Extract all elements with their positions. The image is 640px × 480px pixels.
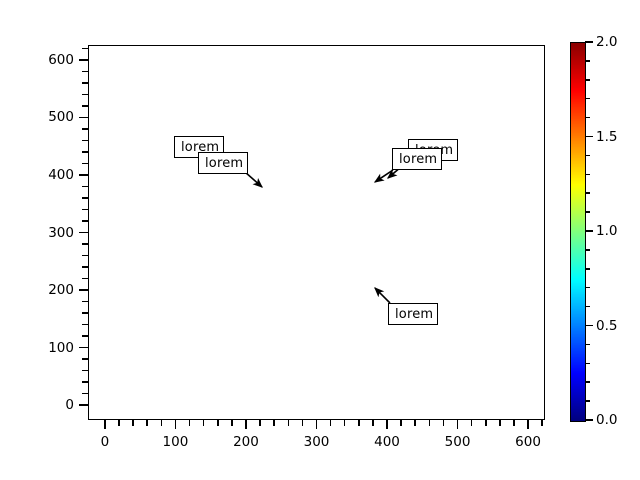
y-axis-tick-minor [82,324,88,326]
x-axis-tick-minor [203,420,205,426]
x-axis-tick-label: 300 [304,434,330,450]
y-axis-tick-label: 500 [48,109,74,125]
y-axis-tick-minor [82,312,88,314]
colorbar-tick-minor [585,174,590,176]
y-axis-tick-minor [82,278,88,280]
colorbar-tick-minor [585,306,590,308]
y-axis-tick-minor [82,266,88,268]
y-axis-tick-minor [82,301,88,303]
x-axis-tick-major [527,420,529,429]
colorbar-tick-minor [585,344,590,346]
x-axis-tick-label: 200 [233,434,259,450]
y-axis-tick-minor [82,370,88,372]
x-axis-tick-minor [146,420,148,426]
colorbar-tick-minor [585,192,590,194]
x-axis-tick-minor [217,420,219,426]
colorbar-tick-major [585,230,593,232]
x-axis-tick-minor [513,420,515,426]
colorbar-tick-label: 0.0 [596,412,617,428]
x-axis-tick-minor [471,420,473,426]
x-axis-tick-minor [161,420,163,426]
x-axis-tick-minor [400,420,402,426]
colorbar-tick-major [585,136,593,138]
annotation-callout[interactable]: lorem [388,303,438,325]
y-axis-tick-major [79,347,88,349]
x-axis-tick-major [104,420,106,429]
y-axis-tick-minor [82,163,88,165]
y-axis-tick-minor [82,220,88,222]
y-axis-tick-label: 400 [48,167,74,183]
x-axis-tick-minor [541,420,543,426]
y-axis-tick-minor [82,393,88,395]
x-axis-tick-label: 500 [445,434,471,450]
x-axis-tick-major [175,420,177,429]
annotation-callout[interactable]: lorem [392,148,442,170]
y-axis-tick-minor [82,140,88,142]
colorbar-tick-minor [585,287,590,289]
y-axis-tick-minor [82,71,88,73]
y-axis-tick-minor [82,94,88,96]
y-axis-tick-minor [82,243,88,245]
x-axis-tick-minor [485,420,487,426]
y-axis-tick-minor [82,358,88,360]
colorbar-tick-label: 1.5 [596,129,617,145]
x-axis-tick-label: 0 [101,434,110,450]
x-axis-tick-label: 600 [515,434,541,450]
colorbar-tick-label: 2.0 [596,34,617,50]
colorbar-tick-minor [585,211,590,213]
x-axis-tick-minor [189,420,191,426]
x-axis-tick-minor [499,420,501,426]
y-axis-tick-major [79,404,88,406]
y-axis-tick-major [79,289,88,291]
y-axis-tick-minor [82,186,88,188]
x-axis-tick-minor [231,420,233,426]
y-axis-tick-label: 600 [48,52,74,68]
x-axis-tick-minor [288,420,290,426]
x-axis-tick-minor [330,420,332,426]
x-axis-tick-major [457,420,459,429]
y-axis-tick-minor [82,209,88,211]
x-axis-tick-major [386,420,388,429]
figure-root: 01002003004005006000100200300400500600 0… [0,0,640,480]
colorbar-tick-minor [585,363,590,365]
y-axis-tick-minor [82,197,88,199]
x-axis-tick-minor [443,420,445,426]
x-axis-tick-minor [118,420,120,426]
colorbar-tick-minor [585,400,590,402]
y-axis-tick-minor [82,82,88,84]
y-axis-tick-major [79,117,88,119]
colorbar-tick-label: 1.0 [596,223,617,239]
y-axis-tick-major [79,174,88,176]
x-axis-tick-major [245,420,247,429]
x-axis-tick-minor [273,420,275,426]
colorbar-tick-label: 0.5 [596,318,617,334]
colorbar-tick-minor [585,268,590,270]
colorbar-tick-minor [585,79,590,81]
colorbar-gradient [570,42,586,422]
y-axis-tick-major [79,232,88,234]
colorbar-tick-major [585,419,593,421]
y-axis-tick-minor [82,255,88,257]
colorbar-tick-minor [585,249,590,251]
colorbar-tick-minor [585,60,590,62]
x-axis-tick-minor [429,420,431,426]
y-axis-tick-minor [82,151,88,153]
x-axis-tick-minor [414,420,416,426]
y-axis-tick-major [79,59,88,61]
colorbar-tick-minor [585,155,590,157]
x-axis-tick-minor [358,420,360,426]
x-axis-tick-major [316,420,318,429]
y-axis-tick-minor [82,48,88,50]
annotation-callout[interactable]: lorem [198,152,248,174]
x-axis-tick-minor [302,420,304,426]
x-axis-tick-label: 100 [163,434,189,450]
colorbar-tick-major [585,41,593,43]
y-axis-tick-minor [82,128,88,130]
colorbar-tick-major [585,325,593,327]
y-axis-tick-minor [82,105,88,107]
colorbar-tick-minor [585,98,590,100]
x-axis-tick-minor [344,420,346,426]
y-axis-tick-minor [82,335,88,337]
y-axis-tick-label: 100 [48,340,74,356]
y-axis-tick-label: 0 [65,397,74,413]
colorbar-tick-minor [585,117,590,119]
colorbar-tick-minor [585,381,590,383]
plot-axes-frame [88,45,545,420]
y-axis-tick-label: 200 [48,282,74,298]
y-axis-tick-label: 300 [48,225,74,241]
y-axis-tick-minor [82,381,88,383]
x-axis-tick-minor [372,420,374,426]
x-axis-tick-minor [132,420,134,426]
x-axis-tick-minor [259,420,261,426]
x-axis-tick-label: 400 [374,434,400,450]
